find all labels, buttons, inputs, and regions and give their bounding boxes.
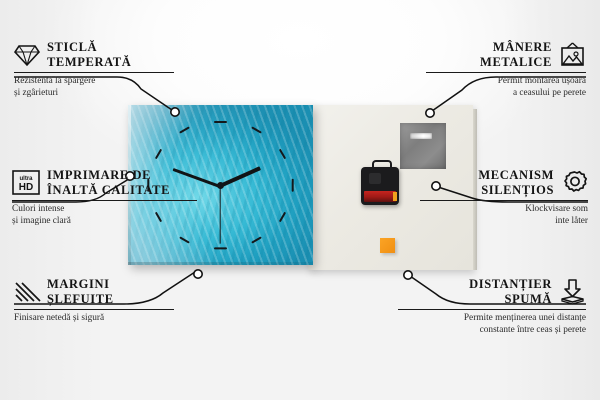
feature-subtitle-line1: Permit montarea ușoară: [426, 76, 586, 88]
battery-cap: [393, 192, 397, 201]
feature-title-line1: IMPRIMARE DE: [47, 168, 170, 183]
divider: [14, 309, 174, 310]
feature-title-line1: MARGINI: [47, 277, 114, 292]
feature-title-line1: STICLĂ: [47, 40, 131, 55]
feature-tempered-glass[interactable]: STICLĂ TEMPERATĂ Rezistentă la spargere …: [14, 40, 174, 99]
glass-edge-bottom: [128, 262, 313, 265]
foam-spacer-part: [380, 238, 395, 253]
divider: [420, 200, 588, 201]
feature-title-line1: DISTANȚIER: [469, 277, 552, 292]
feature-metal-handles[interactable]: MÂNERE METALICE Permit montarea ușoară a…: [426, 40, 586, 99]
feature-subtitle-line1: Rezistentă la spargere: [14, 76, 174, 88]
diamond-icon: [14, 44, 40, 66]
feature-polished-edges[interactable]: MARGINI ȘLEFUITE Finisare netedă și sigu…: [14, 277, 174, 325]
hatch-lines-icon: [14, 281, 40, 303]
clock-mechanism-part: [361, 167, 399, 205]
hour-marker: [291, 178, 293, 191]
feature-title-line2: ÎNALTĂ CALITATE: [47, 183, 170, 198]
feature-subtitle-line2: constante între ceas și perete: [398, 325, 586, 337]
feature-title-line1: MECANISM: [478, 168, 554, 183]
feature-title-line2: ȘLEFUITE: [47, 292, 114, 307]
feature-foam-spacer[interactable]: DISTANȚIER SPUMĂ Permite menținerea unei…: [398, 277, 586, 336]
product-feature-infographic: STICLĂ TEMPERATĂ Rezistentă la spargere …: [0, 0, 600, 400]
feature-silent-mechanism[interactable]: MECANISM SILENȚIOS Klockvisare som inte …: [420, 168, 588, 227]
metal-hanger-part: [400, 123, 446, 169]
hanger-slot: [410, 133, 432, 139]
feature-subtitle-line1: Permite menținerea unei distanțe: [398, 313, 586, 325]
divider: [14, 72, 174, 73]
battery-part: [364, 191, 396, 202]
feature-subtitle-line2: și zgârieturi: [14, 88, 174, 100]
feature-title-line2: TEMPERATĂ: [47, 55, 131, 70]
feature-subtitle-line2: și imagine clară: [12, 216, 197, 228]
picture-frame-icon: [559, 42, 586, 67]
feature-subtitle-line1: Klockvisare som: [420, 204, 588, 216]
center-cap: [217, 182, 224, 189]
feature-hd-printing[interactable]: ultra HD IMPRIMARE DE ÎNALTĂ CALITATE Cu…: [12, 168, 197, 227]
feature-subtitle-line2: inte låter: [420, 216, 588, 228]
second-hand: [219, 186, 220, 244]
mechanism-loop: [372, 160, 392, 171]
feature-subtitle-line1: Culori intense: [12, 204, 197, 216]
divider: [12, 200, 197, 201]
ultra-hd-icon: ultra HD: [12, 170, 40, 195]
feature-subtitle-line1: Finisare netedă și sigură: [14, 313, 174, 325]
svg-text:HD: HD: [19, 182, 33, 193]
feature-subtitle-line2: a ceasului pe perete: [426, 88, 586, 100]
gear-icon: [561, 170, 588, 196]
hour-marker: [214, 247, 227, 249]
press-down-icon: [559, 279, 586, 305]
feature-title-line2: SILENȚIOS: [478, 183, 554, 198]
feature-title-line2: SPUMĂ: [469, 292, 552, 307]
feature-title-line2: METALICE: [480, 55, 552, 70]
feature-title-line1: MÂNERE: [480, 40, 552, 55]
mechanism-shaft: [369, 173, 381, 184]
divider: [398, 309, 586, 310]
divider: [426, 72, 586, 73]
